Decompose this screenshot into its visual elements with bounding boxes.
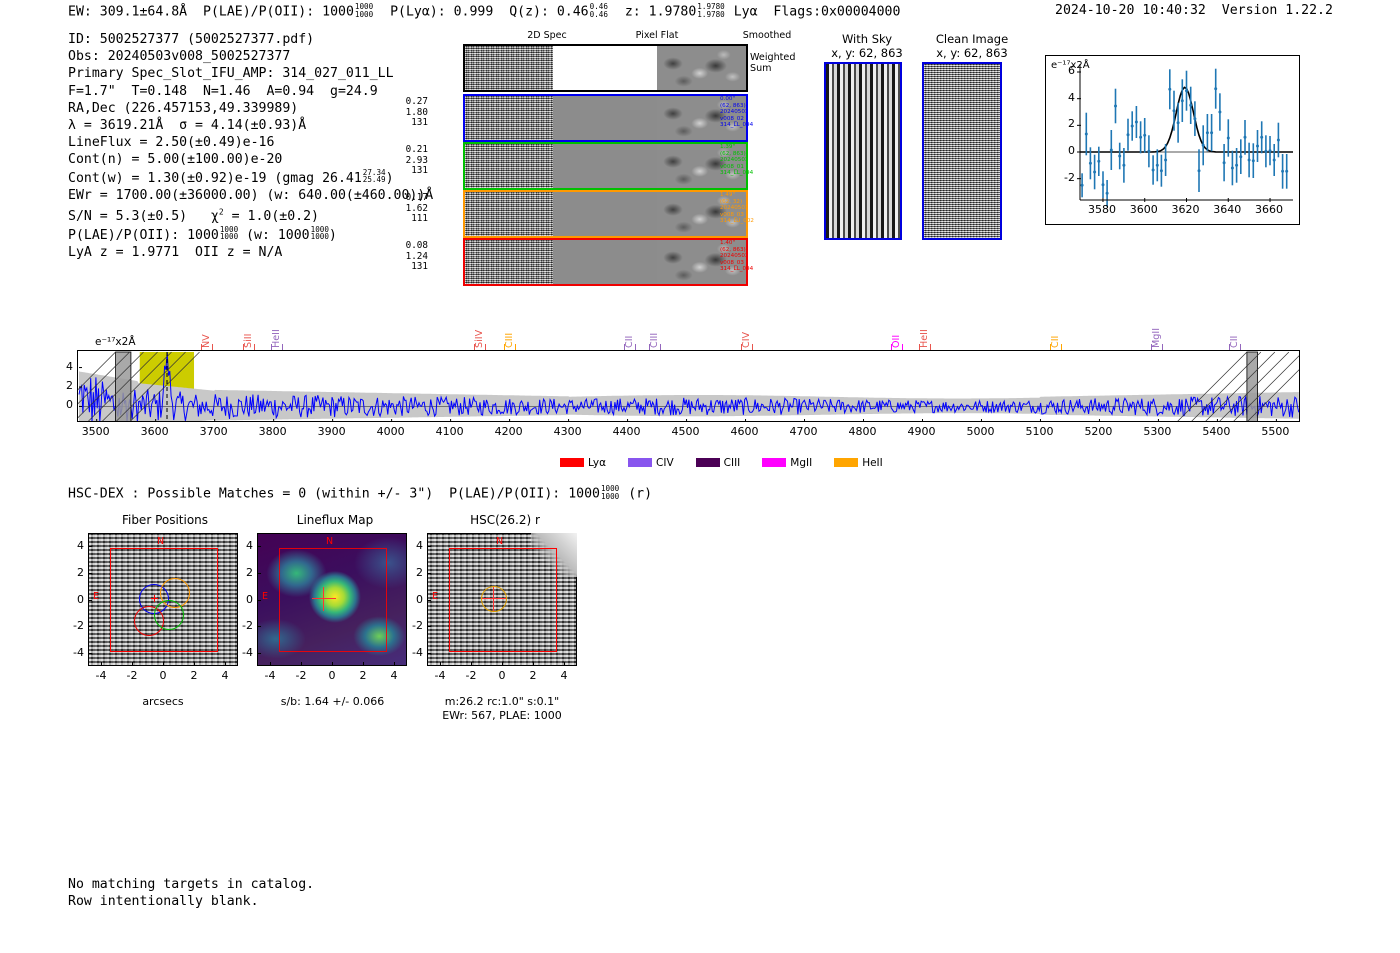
with-sky-title: With Sky xyxy=(812,33,922,46)
full-spectrum-xtick: 4400 xyxy=(602,425,652,438)
panel-ytick: 2 xyxy=(403,566,423,579)
fiber-right-meta: 1.49" (62, 32) 20240503 v008_03 314_LU_0… xyxy=(720,192,790,225)
panel-ytick-mark xyxy=(257,626,261,627)
qz-label: Q(z): xyxy=(509,4,549,19)
panel-xtick-mark xyxy=(440,662,441,666)
fiber-right-meta: 1.39" (62, 863) 20240503 v008_01 314_LL_… xyxy=(720,144,790,177)
full-spectrum-xtick: 4700 xyxy=(779,425,829,438)
panel-xtick-mark xyxy=(502,662,503,666)
panel-ytick: -4 xyxy=(233,646,253,659)
compass-e-label-2: E xyxy=(262,591,268,602)
full-spectrum-xtick: 3600 xyxy=(130,425,180,438)
z-range: 1.97801.9780 xyxy=(697,3,724,18)
qz-value: 0.46 xyxy=(557,4,589,19)
panel-ytick: 0 xyxy=(64,593,84,606)
panel-xtick: 4 xyxy=(211,669,239,682)
legend-label: CIV xyxy=(656,457,674,469)
info-redshifts: LyA z = 1.9771 OII z = N/A xyxy=(68,245,282,260)
line-zoom-axes xyxy=(1045,55,1300,225)
legend-swatch xyxy=(834,458,858,467)
panel-xtick: 2 xyxy=(519,669,547,682)
full-spectrum-xtick: 5400 xyxy=(1191,425,1241,438)
full-spectrum-xtick: 5500 xyxy=(1250,425,1300,438)
panel-xtick: 0 xyxy=(318,669,346,682)
with-sky-image xyxy=(824,62,902,240)
panel-xtick-mark xyxy=(332,662,333,666)
legend-label: MgII xyxy=(790,457,812,469)
full-spectrum-legend: LyαCIVCIIIMgIIHeII xyxy=(560,452,905,471)
col-title-2dspec: 2D Spec xyxy=(492,30,602,41)
hsc-r-caption: m:26.2 rc:1.0" s:0.1" xyxy=(418,695,586,709)
panel-ytick: -4 xyxy=(64,646,84,659)
header-timestamp-block: 2024-10-20 10:40:32 Version 1.22.2 xyxy=(1055,3,1333,18)
line-zoom-ytick: 2 xyxy=(1053,117,1075,130)
line-zoom-xtick: 3620 xyxy=(1164,203,1208,216)
full-spectrum-xtick: 4200 xyxy=(484,425,534,438)
hsc-r-crosshair-h xyxy=(482,598,506,599)
weighted-sum-label: Weighted Sum xyxy=(750,52,795,74)
line-zoom-ytick: 4 xyxy=(1053,91,1075,104)
panel-ytick: -4 xyxy=(403,646,423,659)
plya-label: P(Lyα): xyxy=(390,4,446,19)
panel-ytick-mark xyxy=(427,626,431,627)
panel-ytick-mark xyxy=(88,573,92,574)
fiber-row xyxy=(463,238,748,286)
lineflux-fov-box xyxy=(279,548,387,652)
weighted-sum-row xyxy=(463,44,748,92)
panel-xtick-mark xyxy=(394,662,395,666)
footer-line-1: No matching targets in catalog. xyxy=(68,877,314,892)
fiber-2dspec-image xyxy=(465,96,553,140)
fiber-pixelflat-image xyxy=(553,96,657,140)
full-spectrum-xtick: 3700 xyxy=(189,425,239,438)
fiber-2dspec-image xyxy=(465,240,553,284)
panel-xtick-mark xyxy=(225,662,226,666)
panel-title-hsc-r: HSC(26.2) r xyxy=(405,513,605,527)
full-spectrum-xtick: 4900 xyxy=(896,425,946,438)
panel-ytick-mark xyxy=(427,653,431,654)
panel-xtick-mark xyxy=(564,662,565,666)
info-plae-range: 10001000 xyxy=(220,226,238,242)
with-sky-coords: x, y: 62, 863 xyxy=(812,47,922,60)
weighted-sum-pixelflat-image xyxy=(553,46,657,90)
hsc-r-caption2: EWr: 567, PLAE: 1000 xyxy=(418,709,586,723)
plae-label: P(LAE)/P(OII): xyxy=(203,4,314,19)
plae-range: 10001000 xyxy=(355,3,373,18)
fiber-2dspec-image xyxy=(465,144,553,188)
legend-item: HeII xyxy=(834,457,883,469)
legend-item: Lyα xyxy=(560,457,606,469)
full-spectrum-xtick: 4000 xyxy=(366,425,416,438)
info-ewr: EWr = 1700.00(±36000.00) (w: 640.00(±460… xyxy=(68,188,433,203)
full-spectrum-xtick: 4500 xyxy=(661,425,711,438)
panel-ytick: 2 xyxy=(64,566,84,579)
legend-swatch xyxy=(560,458,584,467)
lineflux-crosshair-v xyxy=(323,587,324,611)
panel-xtick: -2 xyxy=(287,669,315,682)
panel-ytick-mark xyxy=(427,546,431,547)
info-id: ID: 5002527377 (5002527377.pdf) xyxy=(68,32,314,47)
line-zoom-ytick: 6 xyxy=(1053,64,1075,77)
panel-ytick: 4 xyxy=(403,539,423,552)
hsc-dex-headline: HSC-DEX : Possible Matches = 0 (within +… xyxy=(68,485,652,501)
full-spectrum-xtick: 4800 xyxy=(838,425,888,438)
panel-ytick: 4 xyxy=(64,539,84,552)
fiber-pixelflat-image xyxy=(553,240,657,284)
panel-ytick: 0 xyxy=(403,593,423,606)
z-value: 1.9780 xyxy=(649,4,697,19)
qz-range: 0.460.46 xyxy=(590,3,608,18)
panel-ytick-mark xyxy=(257,600,261,601)
panel-ytick: 0 xyxy=(233,593,253,606)
panel-xtick: 2 xyxy=(349,669,377,682)
plya-value: 0.999 xyxy=(454,4,494,19)
fiber-row xyxy=(463,94,748,142)
info-slot: Primary Spec_Slot_IFU_AMP: 314_027_011_L… xyxy=(68,66,394,81)
panel-xtick-mark xyxy=(471,662,472,666)
footer-line-2: Row intentionally blank. xyxy=(68,894,259,909)
panel-xtick: 0 xyxy=(488,669,516,682)
panel-xtick: 4 xyxy=(380,669,408,682)
panel-xtick-mark xyxy=(101,662,102,666)
hsc-r-image[interactable]: N E xyxy=(427,533,577,666)
panel-ytick-mark xyxy=(427,600,431,601)
z-label: z: xyxy=(625,4,641,19)
full-spectrum-xtick: 3800 xyxy=(248,425,298,438)
panel-xtick: 4 xyxy=(550,669,578,682)
weighted-sum-smoothed-image xyxy=(657,46,746,90)
panel-ytick-mark xyxy=(257,573,261,574)
ew-label: EW: xyxy=(68,4,92,19)
panel-xtick: -4 xyxy=(256,669,284,682)
full-spectrum-ytick: 0 xyxy=(55,398,73,411)
fiber-right-meta: 1.40" (62, 863) 20240503 v008_03 314_LL_… xyxy=(720,240,790,273)
fiber-pixelflat-image xyxy=(553,144,657,188)
panel-ytick-mark xyxy=(427,573,431,574)
legend-swatch xyxy=(696,458,720,467)
panel-xtick-mark xyxy=(270,662,271,666)
fiber-left-stats: 0.17 1.62 111 xyxy=(398,193,428,225)
legend-label: Lyα xyxy=(588,457,606,469)
full-spectrum-xtick: 5000 xyxy=(955,425,1005,438)
panel-xtick: -4 xyxy=(426,669,454,682)
clean-image-title: Clean Image xyxy=(912,33,1032,46)
line-zoom-ytick: -2 xyxy=(1053,171,1075,184)
info-seeing: F=1.7" T=0.148 N=1.46 A=0.94 g=24.9 xyxy=(68,84,378,99)
legend-swatch xyxy=(762,458,786,467)
col-title-smoothed: Smoothed xyxy=(712,30,822,41)
info-plae: P(LAE)/P(OII): 100010001000 (w: 10001000… xyxy=(68,228,337,243)
fiber-left-stats: 0.08 1.24 131 xyxy=(398,241,428,273)
panel-xtick: 0 xyxy=(149,669,177,682)
compass-e-label-3: E xyxy=(432,591,438,602)
clean-image-coords: x, y: 62, 863 xyxy=(912,47,1032,60)
panel-ytick: 2 xyxy=(233,566,253,579)
lineflux-crosshair-h xyxy=(312,598,336,599)
ew-value: 309.1±64.8Å xyxy=(100,4,187,19)
info-sn: S/N = 5.3(±0.5) χ2 = 1.0(±0.2) xyxy=(68,209,319,224)
weighted-sum-2dspec-image xyxy=(465,46,553,90)
object-info-block: ID: 5002527377 (5002527377.pdf) Obs: 202… xyxy=(68,31,433,261)
panel-ytick-mark xyxy=(88,600,92,601)
line-zoom-xtick: 3660 xyxy=(1247,203,1291,216)
gmag-range: 27.3425.49 xyxy=(363,169,386,185)
full-spectrum-xtick: 4100 xyxy=(425,425,475,438)
version-label: Version 1.22.2 xyxy=(1222,3,1333,18)
panel-ytick: -2 xyxy=(64,619,84,632)
panel-xtick: -2 xyxy=(118,669,146,682)
panel-xtick-mark xyxy=(132,662,133,666)
target-marker-v xyxy=(154,595,155,602)
panel-xtick-mark xyxy=(194,662,195,666)
panel-ytick-mark xyxy=(257,546,261,547)
legend-item: CIV xyxy=(628,457,674,469)
panel-ytick: -2 xyxy=(403,619,423,632)
panel-xtick-mark xyxy=(533,662,534,666)
panel-xtick: 2 xyxy=(180,669,208,682)
lineflux-map-caption: s/b: 1.64 +/- 0.066 xyxy=(250,695,415,709)
line-zoom-xtick: 3580 xyxy=(1080,203,1124,216)
full-spectrum-xtick: 4600 xyxy=(720,425,770,438)
info-radec: RA,Dec (226.457153,49.339989) xyxy=(68,101,298,116)
hsc-r-aperture-circle xyxy=(481,586,507,612)
flags: Flags:0x00004000 xyxy=(773,4,900,19)
fiber-row xyxy=(463,190,748,238)
hsc-r-crosshair-v xyxy=(493,587,494,611)
full-spectrum-ytick: 4 xyxy=(55,360,73,373)
timestamp: 2024-10-20 10:40:32 xyxy=(1055,3,1206,18)
panel-xtick-mark xyxy=(301,662,302,666)
full-spectrum-xtick: 5200 xyxy=(1073,425,1123,438)
line-zoom-ytick: 0 xyxy=(1053,144,1075,157)
compass-n-label-2: N xyxy=(326,536,333,547)
fiber-2dspec-image xyxy=(465,192,553,236)
fiber-row xyxy=(463,142,748,190)
fiber-right-meta: 0.00" (62, 863) 20240503 v008_02 314_LL_… xyxy=(720,96,790,129)
full-spectrum-xtick: 4300 xyxy=(543,425,593,438)
legend-item: MgII xyxy=(762,457,812,469)
info-lineflux: LineFlux = 2.50(±0.49)e-16 xyxy=(68,135,274,150)
line-zoom-xtick: 3640 xyxy=(1205,203,1249,216)
clean-image-image xyxy=(922,62,1002,240)
z-type: Lyα xyxy=(734,4,758,19)
panel-ytick: 4 xyxy=(233,539,253,552)
full-spectrum-xtick: 5300 xyxy=(1132,425,1182,438)
plae-value: 1000 xyxy=(322,4,354,19)
panel-ytick-mark xyxy=(88,653,92,654)
full-spectrum-xtick: 3900 xyxy=(307,425,357,438)
info-obs: Obs: 20240503v008_5002527377 xyxy=(68,49,290,64)
panel-ytick-mark xyxy=(257,653,261,654)
panel-ytick: -2 xyxy=(233,619,253,632)
full-spectrum-ytick: 2 xyxy=(55,379,73,392)
legend-item: CIII xyxy=(696,457,741,469)
header-summary-line: EW: 309.1±64.8Å P(LAE)/P(OII): 100010001… xyxy=(68,3,900,19)
hsc-plae-range: 10001000 xyxy=(601,485,619,500)
panel-xtick: -2 xyxy=(457,669,485,682)
info-plae-w-range: 10001000 xyxy=(311,226,329,242)
panel-xtick-mark xyxy=(163,662,164,666)
fiber-left-stats: 0.27 1.80 131 xyxy=(398,97,428,129)
col-title-pixelflat: Pixel Flat xyxy=(602,30,712,41)
info-cont-w: Cont(w) = 1.30(±0.92)e-19 (gmag 26.4127.… xyxy=(68,171,394,186)
full-spectrum-xtick: 5100 xyxy=(1014,425,1064,438)
footer-note: No matching targets in catalog. Row inte… xyxy=(68,876,314,910)
compass-n-label-3: N xyxy=(496,536,503,547)
lineflux-map-image[interactable]: N E xyxy=(257,533,407,666)
panel-ytick-mark xyxy=(88,626,92,627)
panel-xtick: -4 xyxy=(87,669,115,682)
fiber-circle-4 xyxy=(154,600,184,630)
panel-xtick-mark xyxy=(363,662,364,666)
legend-swatch xyxy=(628,458,652,467)
fiber-left-stats: 0.21 2.93 131 xyxy=(398,145,428,177)
legend-label: CIII xyxy=(724,457,741,469)
fiber-positions-caption: arcsecs xyxy=(88,695,238,709)
info-lambda: λ = 3619.21Å σ = 4.14(±0.93)Å xyxy=(68,118,306,133)
legend-label: HeII xyxy=(862,457,883,469)
full-spectrum-xtick: 3500 xyxy=(71,425,121,438)
panel-ytick-mark xyxy=(88,546,92,547)
full-spectrum-axes xyxy=(77,350,1300,422)
compass-e-label: E xyxy=(93,591,99,602)
line-zoom-xtick: 3600 xyxy=(1122,203,1166,216)
info-cont-n: Cont(n) = 5.00(±100.00)e-20 xyxy=(68,152,282,167)
full-spectrum-yunit: e⁻¹⁷x2Å xyxy=(95,336,136,348)
compass-n-label: N xyxy=(157,536,164,547)
fiber-positions-image[interactable]: N E xyxy=(88,533,238,666)
fiber-pixelflat-image xyxy=(553,192,657,236)
